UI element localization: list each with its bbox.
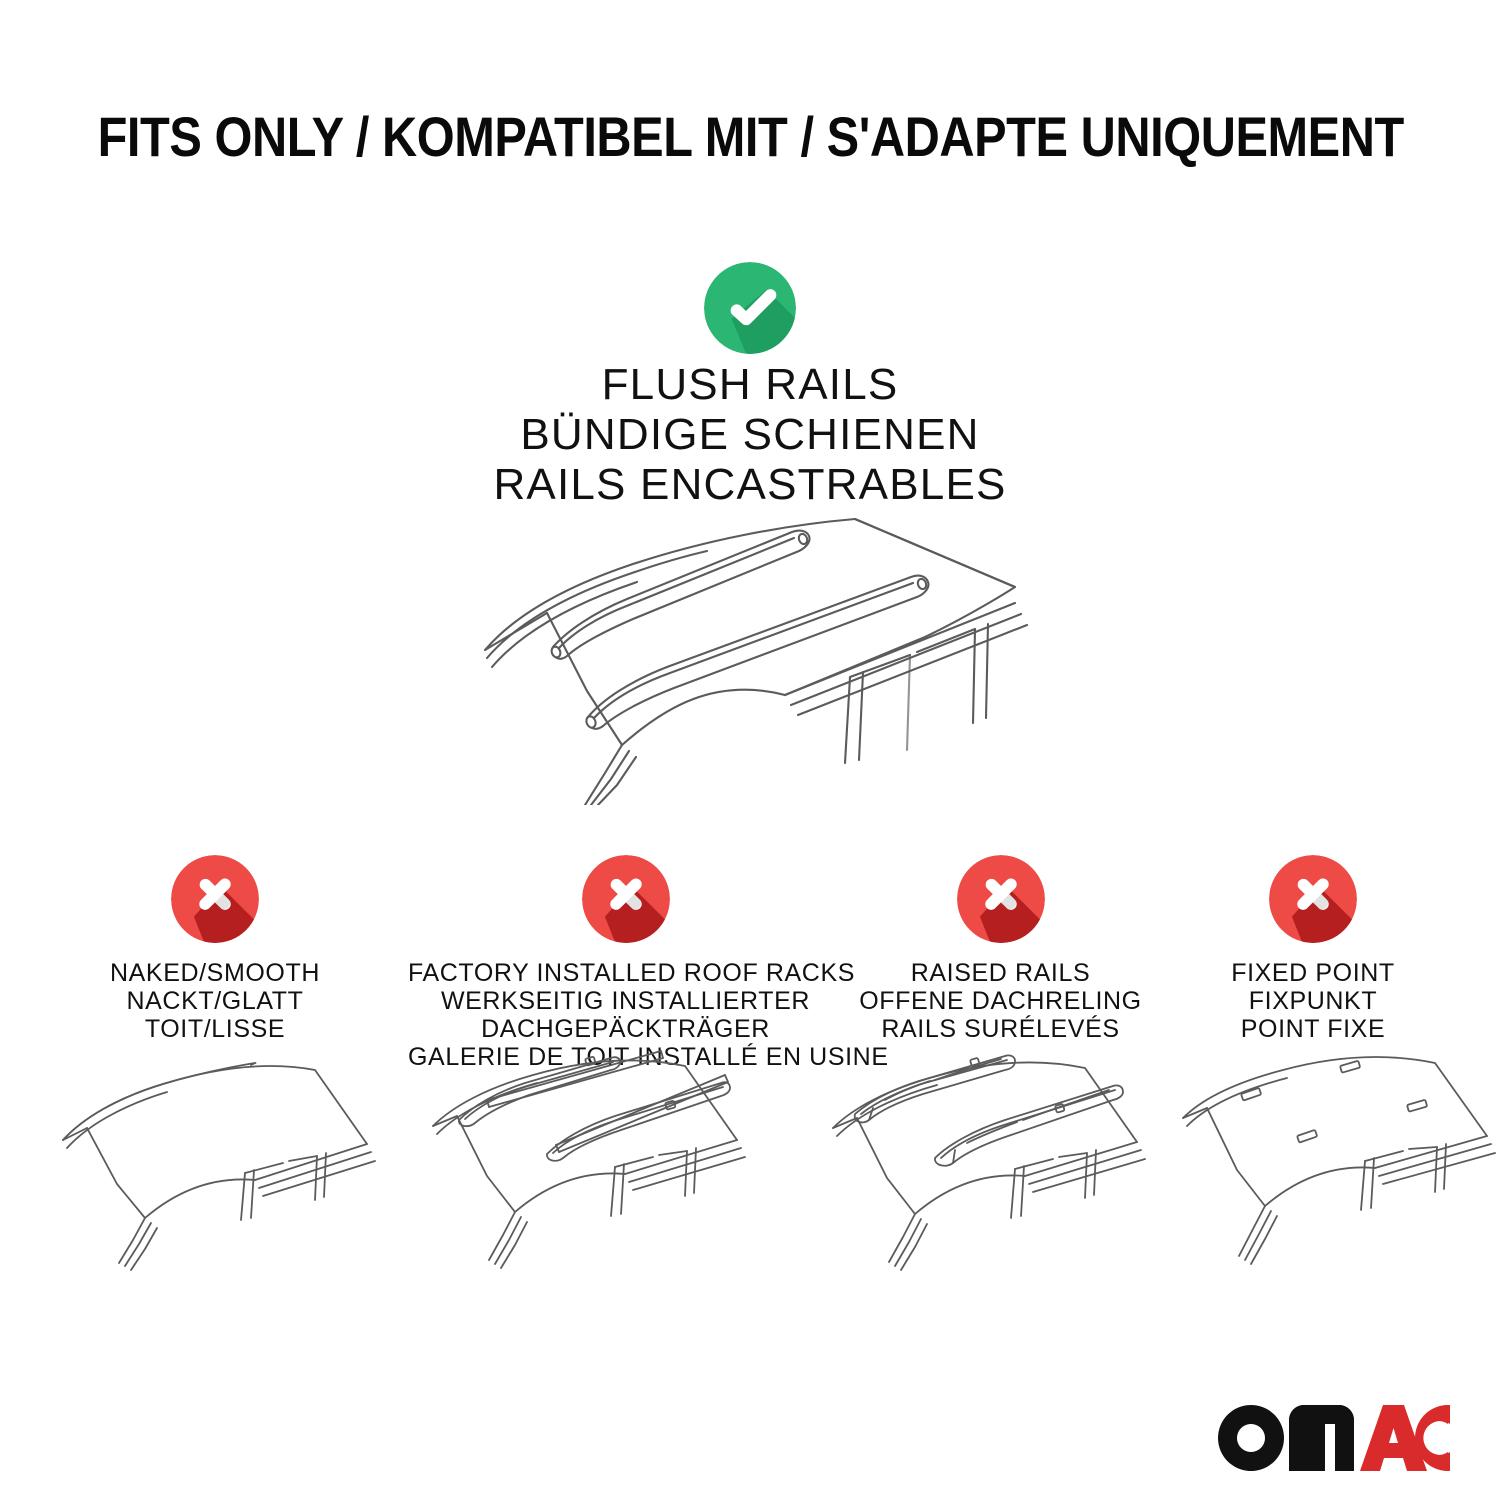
incompatible-item-fixed-point: FIXED POINT FIXPUNKT POINT FIXE — [1178, 855, 1448, 1043]
caption-line-fr: RAILS SURÉLEVÉS — [838, 1015, 1163, 1043]
fixed-point-roof-illustration — [1175, 1048, 1500, 1278]
x-circle-icon — [957, 855, 1045, 943]
caption-line-en: FACTORY INSTALLED ROOF RACKS — [408, 959, 843, 987]
flush-rails-roof-illustration — [455, 495, 1055, 805]
caption-line-fr: TOIT/LISSE — [70, 1015, 360, 1043]
naked-smooth-roof-illustration — [55, 1048, 385, 1278]
omac-logo — [1215, 1402, 1450, 1474]
incompatible-item-raised-rails: RAISED RAILS OFFENE DACHRELING RAILS SUR… — [838, 855, 1163, 1043]
incompatible-caption: NAKED/SMOOTH NACKT/GLATT TOIT/LISSE — [70, 959, 360, 1043]
caption-line-de-1: WERKSEITIG INSTALLIERTER — [408, 987, 843, 1015]
header-bar: FITS ONLY / KOMPATIBEL MIT / S'ADAPTE UN… — [0, 104, 1500, 169]
x-circle-icon — [1269, 855, 1357, 943]
caption-line-en: FIXED POINT — [1178, 959, 1448, 987]
factory-roof-rack-illustration — [425, 1048, 755, 1278]
check-circle-icon — [704, 262, 796, 354]
incompatible-caption: RAISED RAILS OFFENE DACHRELING RAILS SUR… — [838, 959, 1163, 1043]
x-circle-icon — [171, 855, 259, 943]
caption-line-de: OFFENE DACHRELING — [838, 987, 1163, 1015]
compatible-label-en: FLUSH RAILS — [250, 360, 1250, 410]
compatible-label-de: BÜNDIGE SCHIENEN — [250, 410, 1250, 460]
caption-line-de-2: DACHGEPÄCKTRÄGER — [408, 1015, 843, 1043]
caption-line-de: NACKT/GLATT — [70, 987, 360, 1015]
x-circle-icon — [582, 855, 670, 943]
compatible-label-group: FLUSH RAILS BÜNDIGE SCHIENEN RAILS ENCAS… — [250, 360, 1250, 510]
incompatible-item-naked-smooth: NAKED/SMOOTH NACKT/GLATT TOIT/LISSE — [70, 855, 360, 1043]
caption-line-en: RAISED RAILS — [838, 959, 1163, 987]
incompatible-caption: FIXED POINT FIXPUNKT POINT FIXE — [1178, 959, 1448, 1043]
raised-rails-roof-illustration — [825, 1048, 1155, 1278]
incompatible-item-factory-roof-racks: FACTORY INSTALLED ROOF RACKS WERKSEITIG … — [408, 855, 843, 1071]
caption-line-en: NAKED/SMOOTH — [70, 959, 360, 987]
page-title: FITS ONLY / KOMPATIBEL MIT / S'ADAPTE UN… — [98, 104, 1404, 169]
caption-line-de: FIXPUNKT — [1178, 987, 1448, 1015]
caption-line-fr: POINT FIXE — [1178, 1015, 1448, 1043]
